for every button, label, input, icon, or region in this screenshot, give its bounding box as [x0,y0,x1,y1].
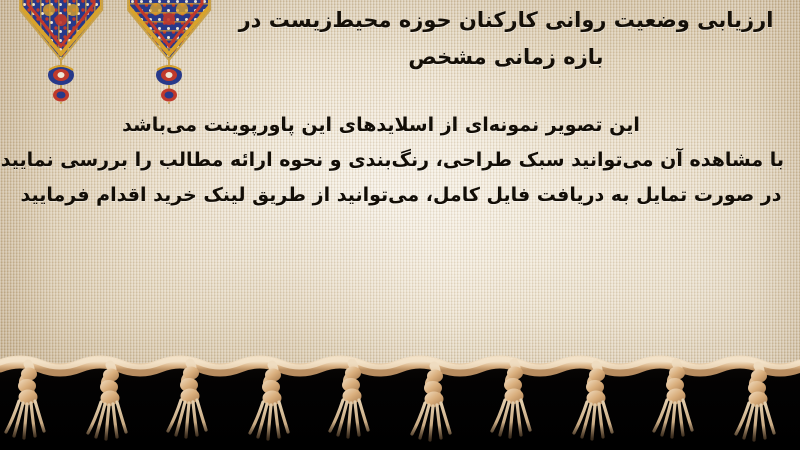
slide-canvas: ارزیابی وضعیت روانی کارکنان حوزه محیط‌زی… [0,0,800,450]
body-line-3: در صورت تمایل به دریافت فایل کامل، می‌تو… [18,178,784,213]
body-line-1: این تصویر نمونه‌ای از اسلایدهای این پاور… [18,108,784,143]
slide-text-layer: ارزیابی وضعیت روانی کارکنان حوزه محیط‌زی… [0,0,800,450]
slide-body: این تصویر نمونه‌ای از اسلایدهای این پاور… [18,108,784,213]
persian-medallion-ornament-left [18,0,104,104]
persian-medallion-ornament-right [126,0,212,104]
body-line-2: با مشاهده آن می‌توانید سبک طراحی، رنگ‌بن… [18,143,784,178]
slide-title: ارزیابی وضعیت روانی کارکنان حوزه محیط‌زی… [226,2,786,76]
